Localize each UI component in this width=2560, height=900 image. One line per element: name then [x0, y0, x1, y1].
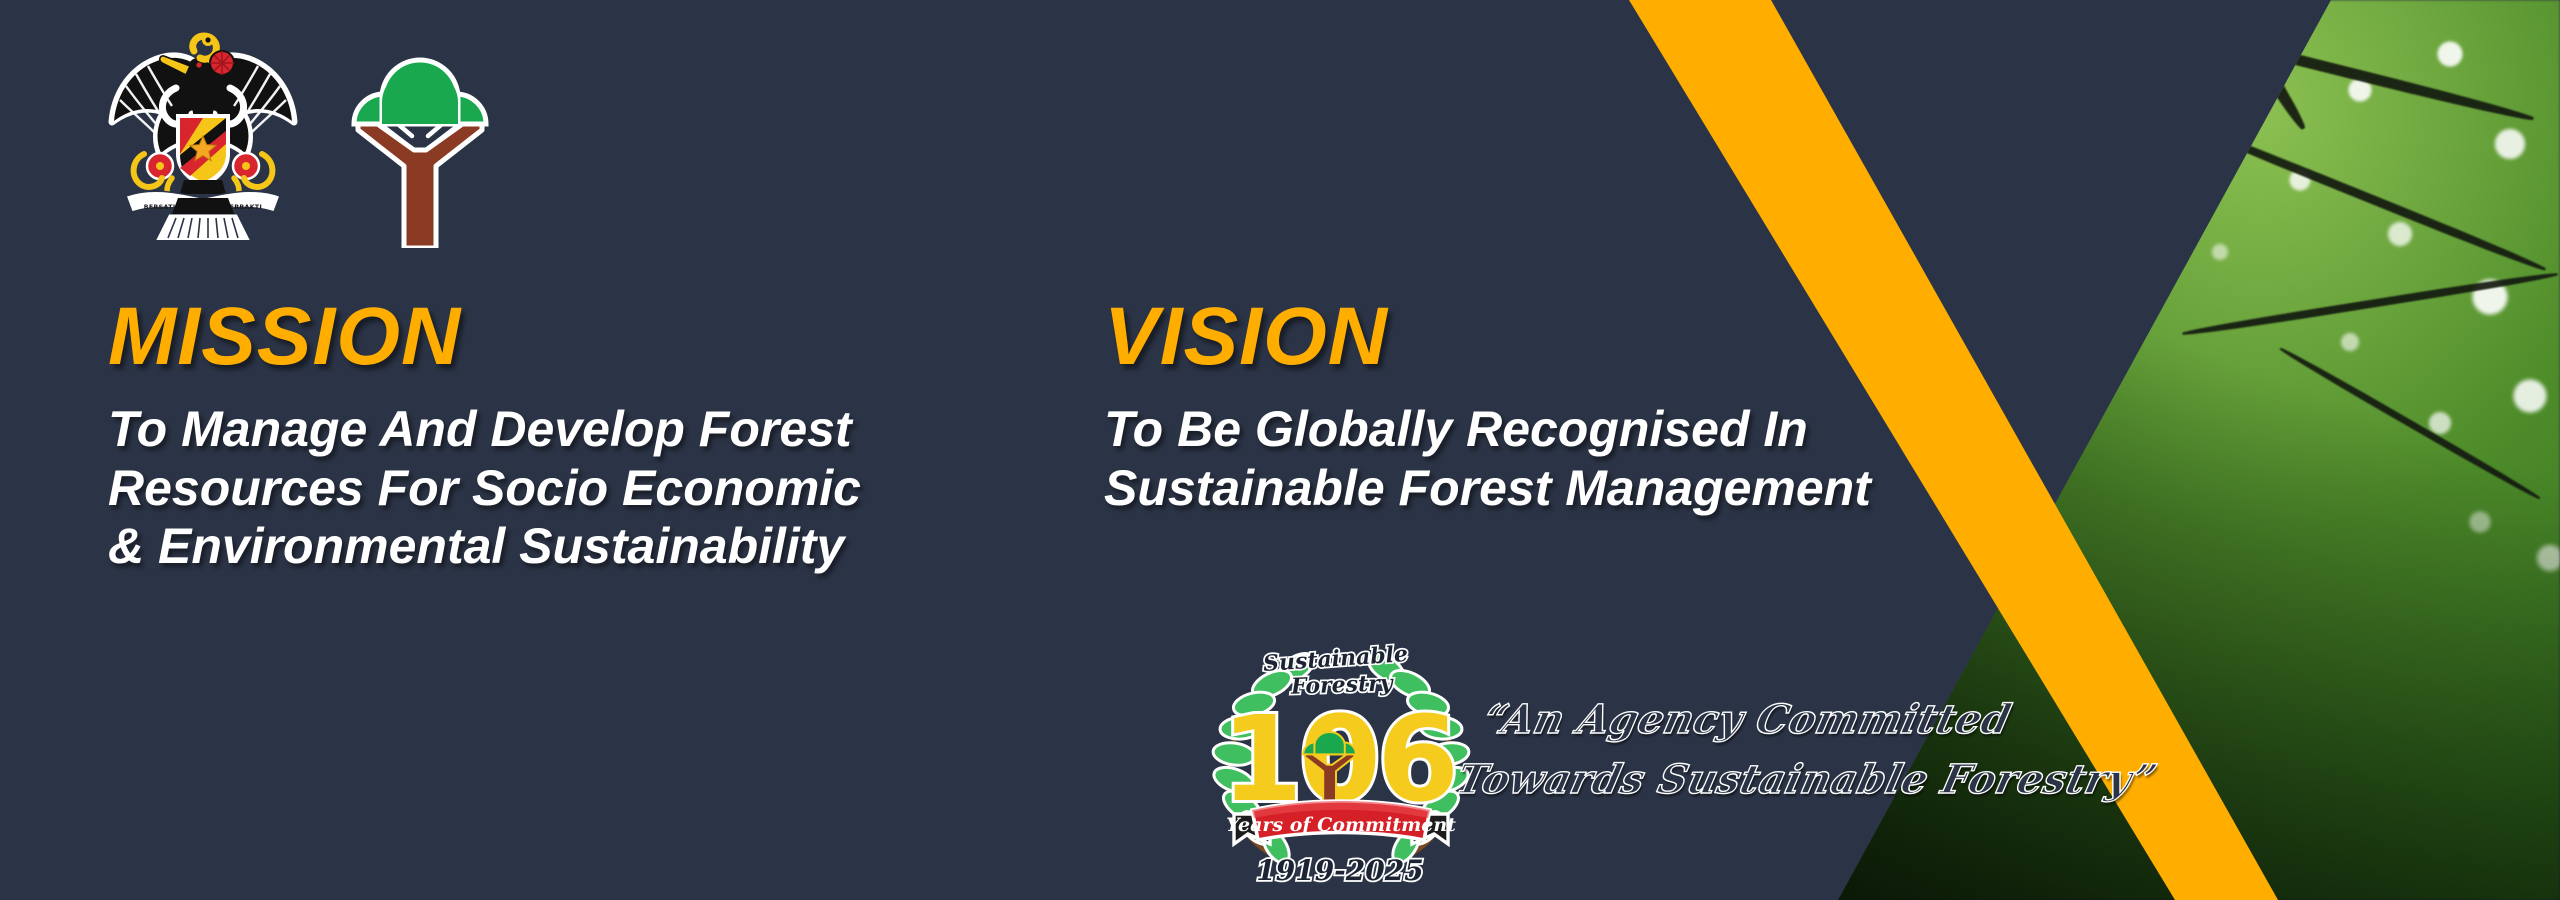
tagline-line-2: Towards Sustainable Forestry”	[1450, 750, 2098, 810]
mission-heading: MISSION	[108, 296, 861, 378]
mission-line-1: To Manage And Develop Forest	[108, 400, 861, 459]
vision-block: VISION To Be Globally Recognised In Sust…	[1104, 296, 1871, 517]
forest-department-tree-logo	[346, 48, 494, 248]
mission-line-2: Resources For Socio Economic	[108, 459, 861, 518]
vision-line-1: To Be Globally Recognised In	[1104, 400, 1871, 459]
anniversary-years: 1919-2025	[1256, 854, 1423, 887]
sarawak-state-crest: BERSATU BERUSAHA BERBAKTI	[98, 18, 308, 240]
anniversary-ribbon-text: Years of Commitment	[1226, 814, 1456, 836]
anniversary-106-logo: Sustainable Forestry 106 Years of Commit…	[1196, 628, 1486, 900]
tagline-line-1: “An Agency Committed	[1478, 690, 2112, 750]
vision-heading: VISION	[1104, 296, 1871, 378]
mission-vision-banner: BERSATU BERUSAHA BERBAKTI	[0, 0, 2560, 900]
mission-line-3: & Environmental Sustainability	[108, 517, 861, 576]
tagline: “An Agency Committed Towards Sustainable…	[1464, 690, 2112, 810]
vision-line-2: Sustainable Forest Management	[1104, 459, 1871, 518]
logo-row: BERSATU BERUSAHA BERBAKTI	[98, 18, 494, 248]
mission-block: MISSION To Manage And Develop Forest Res…	[108, 296, 861, 576]
